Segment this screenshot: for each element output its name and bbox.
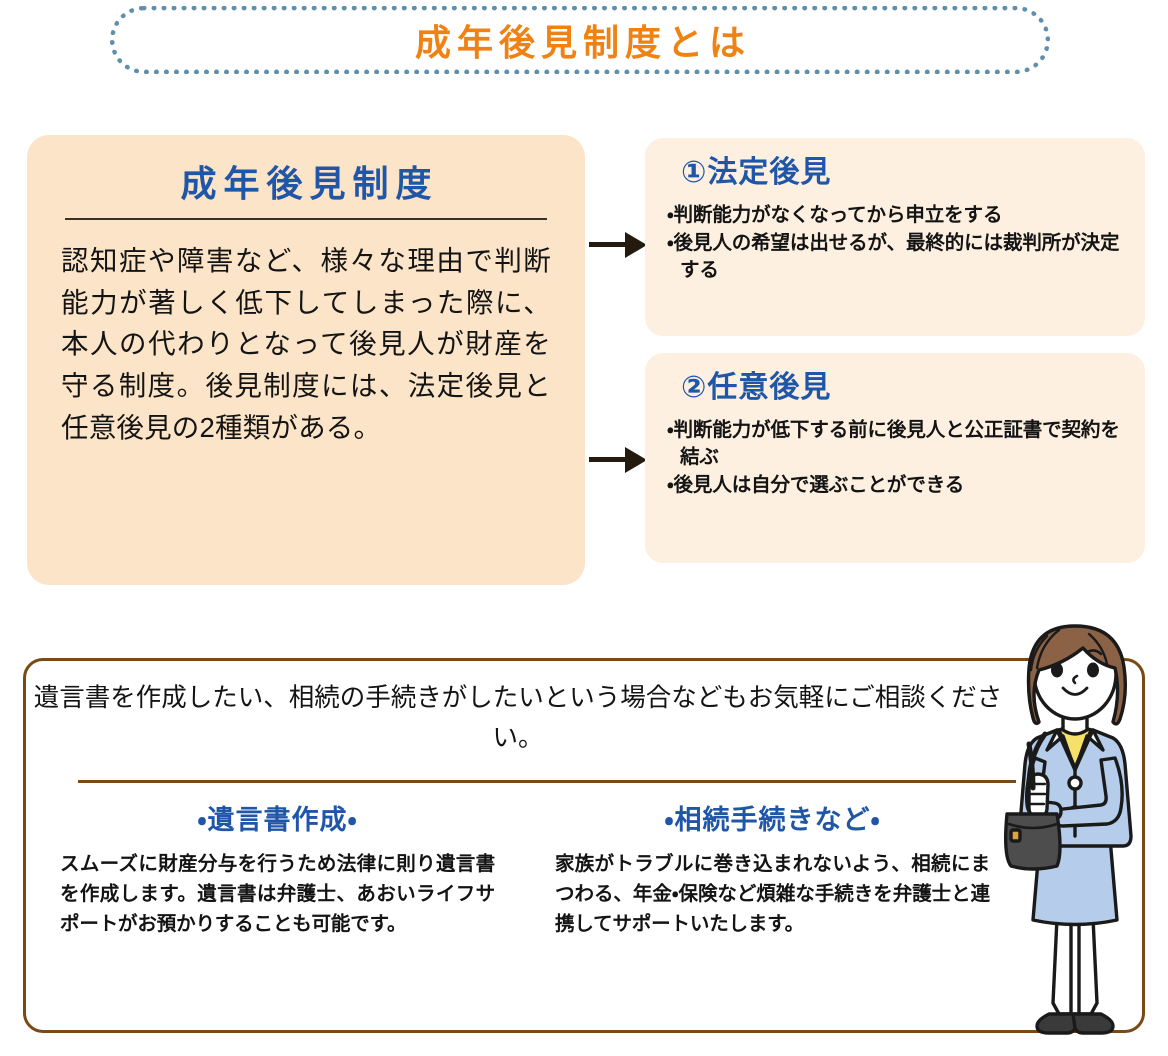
- consultation-divider: [78, 780, 1016, 783]
- arrow-head: [625, 232, 647, 258]
- branch-card-legal-guardianship: ①法定後見 ・判断能力がなくなってから申立をする ・後見人の希望は出せるが、最終…: [645, 138, 1145, 336]
- service-column-inheritance: ・相続手続きなど・ 家族がトラブルに巻き込まれないよう、相続にまつわる、年金・保…: [555, 798, 990, 940]
- arrow-head: [625, 447, 647, 473]
- branch-list: ・判断能力が低下する前に後見人と公正証書で契約を結ぶ ・後見人は自分で選ぶことが…: [667, 417, 1123, 500]
- arrow-right-icon-1: [589, 232, 647, 258]
- branch-card-voluntary-guardianship: ②任意後見 ・判断能力が低下する前に後見人と公正証書で契約を結ぶ ・後見人は自分…: [645, 353, 1145, 563]
- consultation-lead-text: 遺言書を作成したい、相続の手続きがしたいという場合などもお気軽にご相談ください。: [23, 678, 1013, 759]
- arrow-right-icon-2: [589, 447, 647, 473]
- branch-title: ②任意後見: [681, 369, 1123, 407]
- service-title: ・相続手続きなど・: [555, 798, 990, 837]
- service-body: スムーズに財産分与を行うため法律に則り遺言書を作成します。遺言書は弁護士、あおい…: [60, 849, 495, 940]
- list-item: ・判断能力が低下する前に後見人と公正証書で契約を結ぶ: [667, 417, 1123, 472]
- arrow-shaft: [589, 242, 629, 247]
- main-concept-card: 成年後見制度 認知症や障害など、様々な理由で判断能力が著しく低下してしまった際に…: [27, 135, 585, 585]
- list-item: ・後見人は自分で選ぶことができる: [667, 472, 1123, 499]
- main-card-divider: [65, 218, 547, 220]
- businesswoman-illustration: [985, 618, 1165, 1056]
- service-body: 家族がトラブルに巻き込まれないよう、相続にまつわる、年金・保険など煩雑な手続きを…: [555, 849, 990, 940]
- main-card-body: 認知症や障害など、様々な理由で判断能力が著しく低下してしまった際に、本人の代わり…: [61, 240, 551, 449]
- service-column-will: ・遺言書作成・ スムーズに財産分与を行うため法律に則り遺言書を作成します。遺言書…: [60, 798, 495, 940]
- consultation-columns: ・遺言書作成・ スムーズに財産分与を行うため法律に則り遺言書を作成します。遺言書…: [60, 798, 990, 940]
- main-card-title: 成年後見制度: [61, 161, 551, 208]
- arrow-shaft: [589, 457, 629, 462]
- page-title: 成年後見制度とは: [110, 6, 1050, 74]
- businesswoman-svg: [985, 618, 1165, 1056]
- list-item: ・判断能力がなくなってから申立をする: [667, 202, 1123, 229]
- branch-title: ①法定後見: [681, 154, 1123, 192]
- list-item: ・後見人の希望は出せるが、最終的には裁判所が決定する: [667, 230, 1123, 285]
- service-title: ・遺言書作成・: [60, 798, 495, 837]
- branch-list: ・判断能力がなくなってから申立をする ・後見人の希望は出せるが、最終的には裁判所…: [667, 202, 1123, 285]
